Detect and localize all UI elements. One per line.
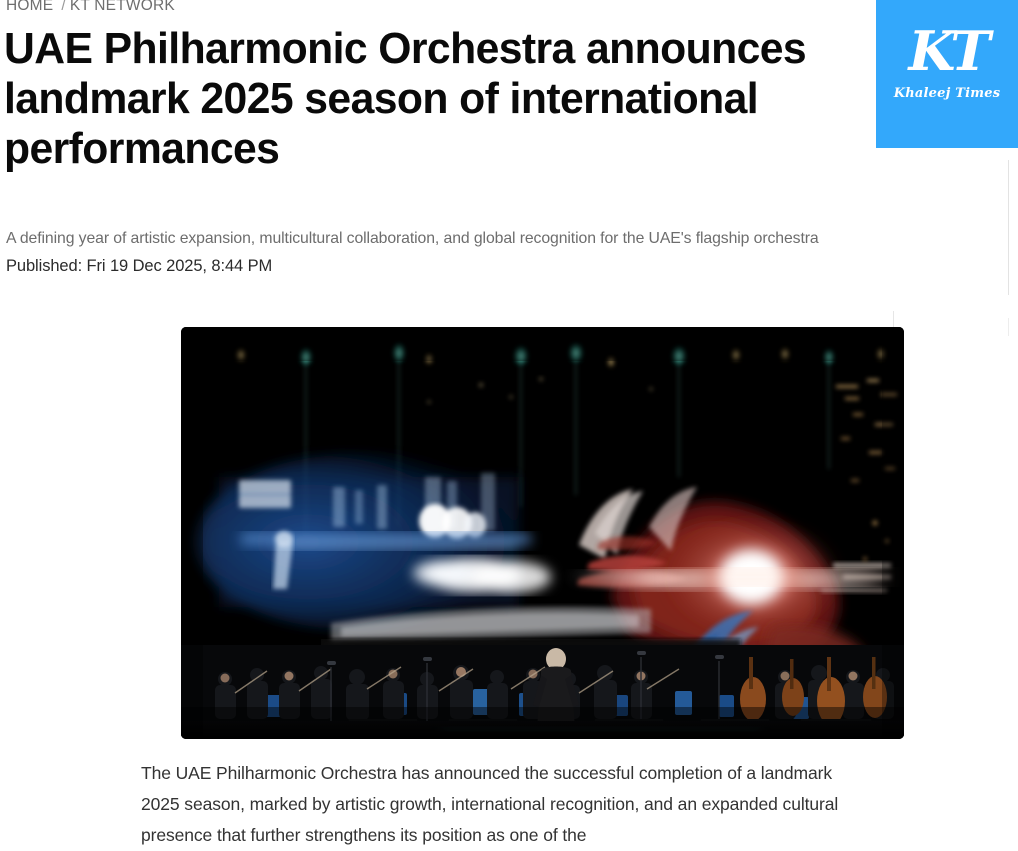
hero-image-artwork [181,327,904,739]
article-standfirst: A defining year of artistic expansion, m… [6,228,946,250]
khaleej-times-logo[interactable]: KT Khaleej Times [876,0,1018,148]
right-rail-divider [1008,160,1009,295]
published-timestamp: Published: Fri 19 Dec 2025, 8:44 PM [6,255,272,277]
kt-monogram-icon: KT [876,22,1018,80]
right-rail-divider-secondary [1008,318,1009,336]
breadcrumb-separator: / [53,0,70,14]
article-body-paragraph: The UAE Philharmonic Orchestra has annou… [141,758,857,851]
kt-wordmark: Khaleej Times [876,86,1018,101]
article-page: HOME/KT NETWORK UAE Philharmonic Orchest… [0,0,1018,845]
breadcrumb-link-home[interactable]: HOME [6,0,53,14]
hero-image [181,327,904,739]
breadcrumb-link-section[interactable]: KT NETWORK [70,0,175,14]
page-title: UAE Philharmonic Orchestra announces lan… [4,24,858,174]
breadcrumb: HOME/KT NETWORK [6,0,175,16]
